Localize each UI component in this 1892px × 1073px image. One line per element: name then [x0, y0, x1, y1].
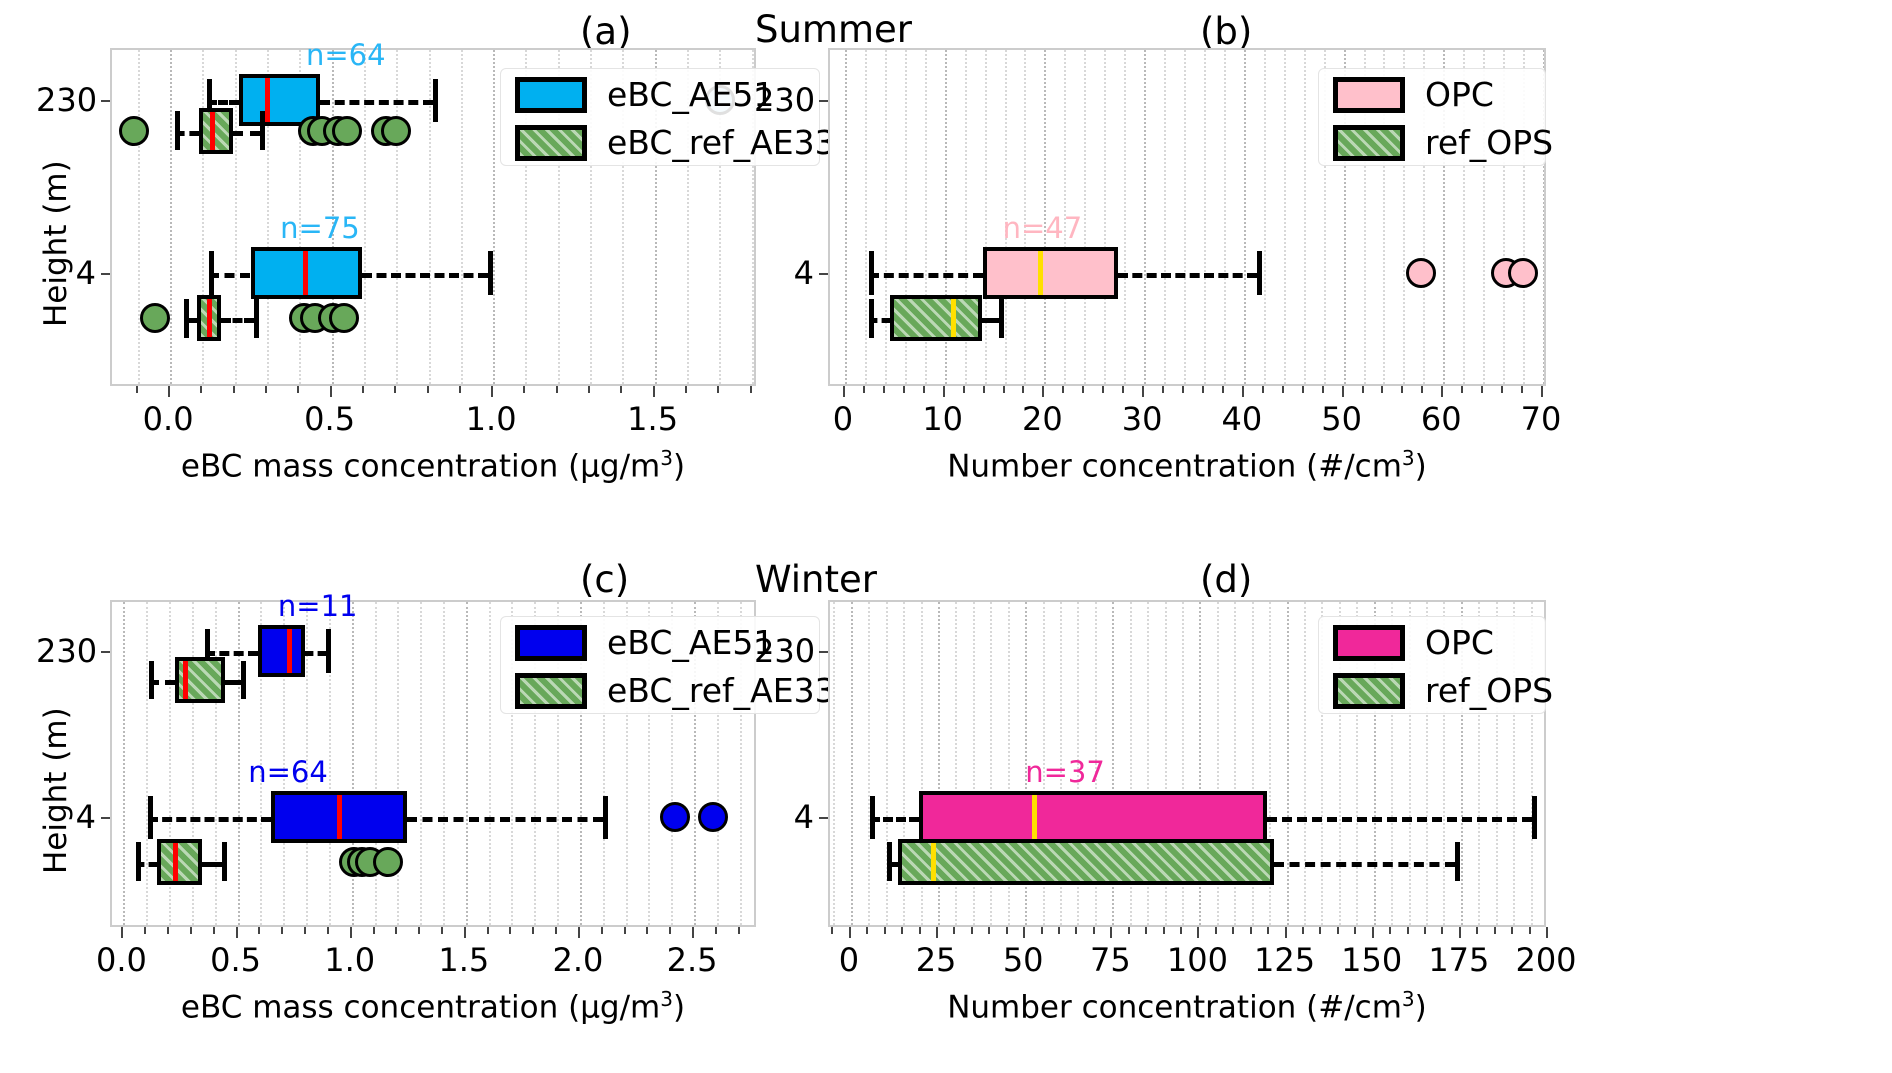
- whisker-cap: [148, 796, 153, 840]
- legend-swatch-hatched: [1333, 673, 1405, 709]
- gridline: [1124, 50, 1126, 384]
- gridline: [375, 602, 377, 925]
- x-tick: [1075, 927, 1077, 934]
- x-tick: [459, 386, 461, 393]
- x-tick: [883, 386, 885, 393]
- x-tick: [1381, 386, 1383, 393]
- x-tick: [831, 927, 833, 934]
- whisker-low: [205, 651, 259, 656]
- whisker-cap: [887, 842, 892, 881]
- x-tick-label: 0.5: [304, 400, 355, 438]
- legend-item[interactable]: eBC_AE51: [515, 75, 774, 114]
- legend-label: eBC_ref_AE33: [607, 123, 836, 162]
- x-tick: [750, 386, 752, 393]
- n-annotation: n=75: [280, 211, 360, 245]
- legend-item[interactable]: eBC_ref_AE33: [515, 671, 836, 710]
- y-tick-label: 230: [36, 81, 96, 119]
- x-tick: [168, 386, 170, 397]
- x-tick: [849, 927, 851, 938]
- x-tick: [1441, 927, 1443, 934]
- x-tick-label: 200: [1515, 941, 1576, 979]
- x-tick: [297, 386, 299, 393]
- panel-letter-d: (d): [1200, 558, 1252, 601]
- x-tick: [395, 927, 397, 934]
- legend-swatch-solid: [1333, 625, 1405, 661]
- x-axis-title: Number concentration (#/cm3): [828, 446, 1546, 484]
- x-tick: [327, 927, 329, 934]
- x-tick-label: 10: [922, 400, 963, 438]
- x-tick-label: 1.5: [438, 941, 489, 979]
- y-axis-title: Height (m): [38, 160, 74, 327]
- legend-item[interactable]: OPC: [1333, 75, 1494, 114]
- gridline: [466, 602, 468, 925]
- x-tick: [1006, 927, 1008, 934]
- legend-label: eBC_AE51: [607, 75, 774, 114]
- x-tick: [1162, 386, 1164, 393]
- x-tick: [1424, 927, 1426, 934]
- y-tick: [101, 273, 110, 275]
- x-tick: [1529, 927, 1531, 934]
- gridline: [885, 50, 887, 384]
- legend-swatch-solid: [515, 625, 587, 661]
- x-tick: [362, 386, 364, 393]
- whisker-high: [1274, 862, 1455, 867]
- outlier-marker: [381, 116, 411, 146]
- legend-swatch-hatched: [515, 673, 587, 709]
- x-tick: [1122, 386, 1124, 393]
- x-tick: [1501, 386, 1503, 393]
- x-tick: [258, 927, 260, 934]
- x-tick: [919, 927, 921, 934]
- whisker-cap: [603, 796, 608, 840]
- y-tick: [819, 273, 828, 275]
- x-tick: [1062, 386, 1064, 393]
- x-tick: [1182, 386, 1184, 393]
- whisker-high: [225, 680, 241, 685]
- x-tick: [304, 927, 306, 934]
- legend-label: eBC_AE51: [607, 623, 774, 662]
- x-axis-title: eBC mass concentration (µg/m3): [110, 987, 756, 1025]
- box-ref_ops: [890, 295, 982, 341]
- x-tick: [136, 386, 138, 393]
- outlier-marker: [698, 802, 728, 832]
- gridline: [489, 602, 491, 925]
- x-tick: [555, 927, 557, 934]
- x-tick: [578, 927, 580, 938]
- x-tick: [1250, 927, 1252, 934]
- legend-item[interactable]: ref_OPS: [1333, 671, 1553, 710]
- x-tick: [1058, 927, 1060, 934]
- x-tick: [692, 927, 694, 938]
- x-tick-label: 0.5: [210, 941, 261, 979]
- n-annotation: n=11: [278, 589, 358, 623]
- x-tick-label: 1.5: [627, 400, 678, 438]
- x-tick: [1342, 386, 1344, 397]
- whisker-cap: [1532, 796, 1537, 840]
- gridline: [123, 602, 125, 925]
- gridline: [868, 602, 870, 925]
- x-tick: [1441, 386, 1443, 397]
- x-tick: [1110, 927, 1112, 938]
- x-axis-title: Number concentration (#/cm3): [828, 987, 1546, 1025]
- x-tick: [624, 927, 626, 934]
- x-tick: [1541, 386, 1543, 397]
- x-tick-label: 0: [839, 941, 859, 979]
- x-tick: [464, 927, 466, 938]
- x-tick: [213, 927, 215, 934]
- box-opc: [919, 791, 1268, 843]
- season-title-summer: Summer: [755, 8, 912, 51]
- y-tick-label: 4: [754, 798, 814, 836]
- y-tick: [819, 817, 828, 819]
- whisker-high: [233, 131, 260, 136]
- x-tick: [588, 386, 590, 393]
- whisker-cap: [136, 842, 141, 881]
- gridline: [865, 50, 867, 384]
- gridline: [493, 50, 495, 384]
- legend-b: OPCref_OPS: [1318, 68, 1546, 166]
- x-tick: [265, 386, 267, 393]
- x-tick: [144, 927, 146, 934]
- y-axis-title: Height (m): [38, 707, 74, 874]
- whisker-cap: [999, 299, 1004, 338]
- whisker-high: [1267, 817, 1532, 822]
- x-tick: [717, 386, 719, 393]
- x-tick: [1372, 927, 1374, 938]
- x-tick: [1481, 386, 1483, 393]
- x-tick: [1401, 386, 1403, 393]
- x-tick: [1407, 927, 1409, 934]
- x-tick: [1282, 386, 1284, 393]
- y-tick-label: 4: [754, 254, 814, 292]
- gridline: [851, 602, 853, 925]
- x-tick: [236, 927, 238, 938]
- x-tick: [1102, 386, 1104, 393]
- whisker-cap: [1455, 842, 1460, 881]
- y-tick: [101, 651, 110, 653]
- gridline: [1084, 50, 1086, 384]
- gridline: [420, 602, 422, 925]
- median-line: [1038, 251, 1043, 295]
- n-annotation: n=47: [1003, 211, 1083, 245]
- x-tick: [988, 927, 990, 934]
- x-tick: [350, 927, 352, 938]
- legend-label: eBC_ref_AE33: [607, 671, 836, 710]
- legend-item[interactable]: OPC: [1333, 623, 1494, 662]
- x-tick: [1022, 386, 1024, 393]
- whisker-high: [1118, 273, 1257, 278]
- legend-swatch-solid: [515, 77, 587, 113]
- whisker-high: [202, 862, 221, 867]
- x-tick: [936, 927, 938, 938]
- whisker-cap: [260, 111, 265, 150]
- whisker-high: [362, 273, 488, 278]
- x-tick-label: 1.0: [324, 941, 375, 979]
- x-tick: [653, 386, 655, 397]
- x-axis-title: eBC mass concentration (µg/m3): [110, 446, 756, 484]
- x-tick: [1232, 927, 1234, 934]
- gridline: [170, 50, 172, 384]
- x-tick: [863, 386, 865, 393]
- x-tick: [1041, 927, 1043, 934]
- x-tick: [1459, 927, 1461, 938]
- legend-swatch-hatched: [515, 125, 587, 161]
- whisker-cap: [433, 79, 438, 123]
- x-tick: [1202, 386, 1204, 393]
- x-tick: [167, 927, 169, 934]
- whisker-high: [982, 318, 999, 323]
- x-tick: [1242, 386, 1244, 397]
- x-tick: [901, 927, 903, 934]
- whisker-high: [320, 100, 433, 105]
- whisker-cap: [870, 796, 875, 840]
- whisker-cap: [869, 251, 874, 295]
- gridline: [845, 50, 847, 384]
- x-tick: [1222, 386, 1224, 393]
- x-tick: [1163, 927, 1165, 934]
- n-annotation: n=37: [1025, 755, 1105, 789]
- whisker-cap: [184, 299, 189, 338]
- x-tick: [509, 927, 511, 934]
- whisker-cap: [241, 661, 246, 700]
- whisker-low: [209, 273, 251, 278]
- x-tick: [1476, 927, 1478, 934]
- season-title-winter: Winter: [755, 558, 877, 601]
- x-tick: [1421, 386, 1423, 393]
- x-tick: [491, 386, 493, 397]
- x-tick: [669, 927, 671, 934]
- x-tick: [903, 386, 905, 393]
- legend-label: OPC: [1425, 623, 1494, 662]
- legend-swatch-hatched: [1333, 125, 1405, 161]
- legend-label: OPC: [1425, 75, 1494, 114]
- x-tick-label: 2.0: [552, 941, 603, 979]
- whisker-cap: [175, 111, 180, 150]
- median-line: [931, 843, 936, 881]
- x-tick-label: 100: [1167, 941, 1228, 979]
- x-tick: [685, 386, 687, 393]
- outlier-marker: [1508, 258, 1538, 288]
- x-tick: [1262, 386, 1264, 393]
- median-line: [265, 78, 270, 122]
- x-tick: [1337, 927, 1339, 934]
- x-tick: [121, 927, 123, 938]
- y-tick-label: 230: [754, 632, 814, 670]
- outlier-marker: [332, 116, 362, 146]
- x-tick: [330, 386, 332, 397]
- figure-root: (a)0.00.51.01.52304eBC mass concentratio…: [0, 0, 1892, 1073]
- x-tick: [418, 927, 420, 934]
- x-tick: [1215, 927, 1217, 934]
- n-annotation: n=64: [248, 755, 328, 789]
- x-tick: [190, 927, 192, 934]
- whisker-cap: [222, 842, 227, 881]
- n-annotation: n=64: [306, 38, 386, 72]
- x-tick-label: 1.0: [466, 400, 517, 438]
- x-tick: [1285, 927, 1287, 938]
- x-tick: [373, 927, 375, 934]
- median-line: [183, 661, 188, 699]
- y-tick-label: 230: [36, 632, 96, 670]
- x-tick: [983, 386, 985, 393]
- median-line: [173, 843, 178, 881]
- x-tick-label: 2.5: [667, 941, 718, 979]
- x-tick: [487, 927, 489, 934]
- x-tick: [1145, 927, 1147, 934]
- x-tick: [1354, 927, 1356, 934]
- box-ebc_ref_ae33: [199, 108, 233, 154]
- x-tick: [1302, 927, 1304, 934]
- x-tick: [1302, 386, 1304, 393]
- x-tick-label: 20: [1022, 400, 1063, 438]
- x-tick: [394, 386, 396, 393]
- gridline: [443, 602, 445, 925]
- x-tick: [1023, 927, 1025, 938]
- box-ebc_ae51: [258, 625, 305, 677]
- legend-item[interactable]: eBC_AE51: [515, 623, 774, 662]
- x-tick: [943, 386, 945, 397]
- x-tick-label: 150: [1341, 941, 1402, 979]
- whisker-cap: [488, 251, 493, 295]
- legend-item[interactable]: ref_OPS: [1333, 123, 1553, 162]
- gridline: [1304, 602, 1306, 925]
- x-tick-label: 75: [1090, 941, 1131, 979]
- x-tick-label: 25: [916, 941, 957, 979]
- x-tick: [1267, 927, 1269, 934]
- gridline: [1264, 50, 1266, 384]
- outlier-marker: [119, 116, 149, 146]
- median-line: [210, 112, 215, 150]
- x-tick: [620, 386, 622, 393]
- x-tick: [963, 386, 965, 393]
- x-tick: [1511, 927, 1513, 934]
- x-tick: [1197, 927, 1199, 938]
- gridline: [146, 602, 148, 925]
- whisker-cap: [149, 661, 154, 700]
- x-tick-label: 0: [833, 400, 853, 438]
- x-tick: [601, 927, 603, 934]
- x-tick-label: 60: [1421, 400, 1462, 438]
- x-tick-label: 70: [1521, 400, 1562, 438]
- x-tick-label: 50: [1321, 400, 1362, 438]
- x-tick: [971, 927, 973, 934]
- x-tick: [1521, 386, 1523, 393]
- x-tick: [646, 927, 648, 934]
- x-tick: [441, 927, 443, 934]
- whisker-high: [221, 318, 253, 323]
- box-ebc_ref_ae33: [157, 839, 203, 885]
- outlier-marker: [1406, 258, 1436, 288]
- x-tick-label: 30: [1122, 400, 1163, 438]
- x-tick: [1128, 927, 1130, 934]
- gridline: [1144, 50, 1146, 384]
- x-tick: [1546, 927, 1548, 938]
- x-tick: [532, 927, 534, 934]
- median-line: [1032, 795, 1037, 839]
- gridline: [833, 602, 835, 925]
- x-tick: [1461, 386, 1463, 393]
- box-opc: [983, 247, 1119, 299]
- gridline: [1104, 50, 1106, 384]
- x-tick-label: 125: [1254, 941, 1315, 979]
- x-tick: [1389, 927, 1391, 934]
- gridline: [1304, 50, 1306, 384]
- whisker-high: [407, 817, 603, 822]
- y-tick: [819, 651, 828, 653]
- gridline: [985, 50, 987, 384]
- median-line: [207, 299, 212, 337]
- legend-d: OPCref_OPS: [1318, 616, 1546, 714]
- x-tick: [1322, 386, 1324, 393]
- gridline: [1224, 50, 1226, 384]
- whisker-low: [869, 273, 983, 278]
- x-tick: [200, 386, 202, 393]
- x-tick-label: 50: [1003, 941, 1044, 979]
- x-tick: [1362, 386, 1364, 393]
- x-tick: [923, 386, 925, 393]
- gridline: [461, 50, 463, 384]
- gridline: [1284, 50, 1286, 384]
- whisker-cap: [209, 251, 214, 295]
- x-tick: [1042, 386, 1044, 397]
- x-tick: [715, 927, 717, 934]
- x-tick: [866, 927, 868, 934]
- x-tick: [1319, 927, 1321, 934]
- gridline: [1164, 50, 1166, 384]
- panel-letter-b: (b): [1200, 10, 1252, 53]
- median-line: [337, 795, 342, 839]
- whisker-high: [305, 651, 326, 656]
- x-tick: [1082, 386, 1084, 393]
- x-tick: [738, 927, 740, 934]
- median-line: [303, 251, 308, 295]
- legend-label: ref_OPS: [1425, 123, 1553, 162]
- gridline: [1244, 50, 1246, 384]
- gridline: [138, 50, 140, 384]
- median-line: [951, 299, 956, 337]
- whisker-cap: [869, 299, 874, 338]
- whisker-cap: [1257, 251, 1262, 295]
- whisker-low: [148, 817, 271, 822]
- y-tick: [101, 100, 110, 102]
- x-tick: [1494, 927, 1496, 934]
- gridline: [1184, 50, 1186, 384]
- y-tick: [819, 100, 828, 102]
- x-tick: [1142, 386, 1144, 397]
- median-line: [287, 629, 292, 673]
- panel-letter-a: (a): [580, 10, 632, 53]
- x-tick: [1003, 386, 1005, 393]
- legend-swatch-solid: [1333, 77, 1405, 113]
- x-tick: [523, 386, 525, 393]
- y-tick-label: 230: [754, 81, 814, 119]
- x-tick: [556, 386, 558, 393]
- whisker-low: [870, 817, 919, 822]
- x-tick: [281, 927, 283, 934]
- whisker-cap: [326, 629, 331, 673]
- gridline: [397, 602, 399, 925]
- x-tick: [884, 927, 886, 934]
- x-tick: [843, 386, 845, 397]
- legend-item[interactable]: eBC_ref_AE33: [515, 123, 836, 162]
- gridline: [1204, 50, 1206, 384]
- gridline: [1287, 602, 1289, 925]
- x-tick-label: 0.0: [143, 400, 194, 438]
- legend-label: ref_OPS: [1425, 671, 1553, 710]
- x-tick: [1093, 927, 1095, 934]
- box-ref_ops: [898, 839, 1274, 885]
- x-tick: [1180, 927, 1182, 934]
